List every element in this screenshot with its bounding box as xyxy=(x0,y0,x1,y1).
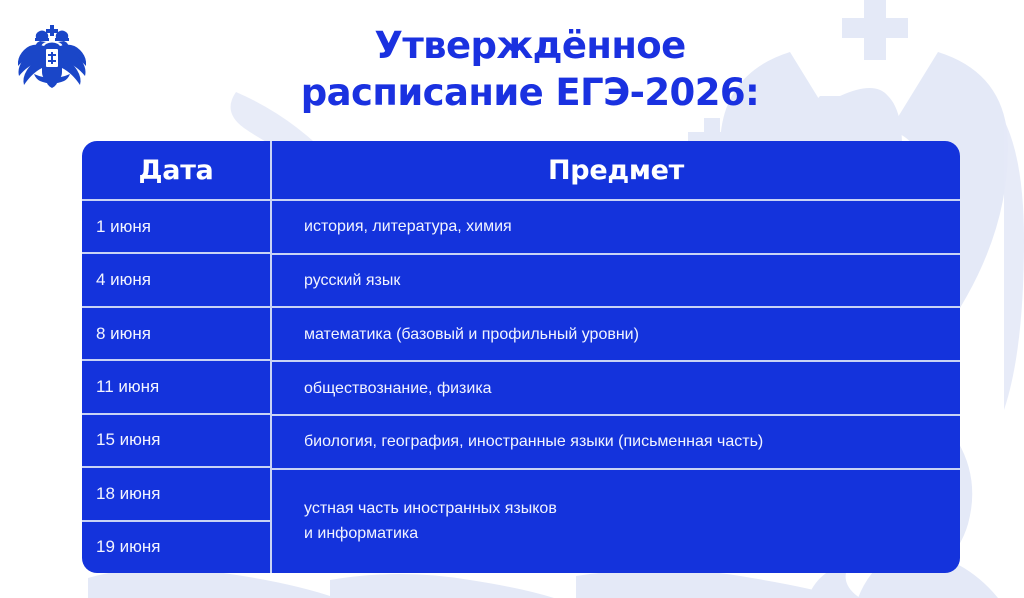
merged-subject-line2: и информатика xyxy=(304,521,557,546)
subject-cell: биология, география, иностранные языки (… xyxy=(272,416,960,470)
table-row: 18 июня xyxy=(82,468,270,521)
table-row: 8 июня xyxy=(82,308,270,361)
table-row: 4 июня xyxy=(82,254,270,307)
page-title-line2: расписание ЕГЭ-2026: xyxy=(180,69,880,116)
date-column: 1 июня 4 июня 8 июня 11 июня 15 июня 18 … xyxy=(82,201,272,573)
double-headed-eagle-emblem xyxy=(18,22,86,88)
column-header-subject: Предмет xyxy=(272,141,960,199)
table-row: 11 июня xyxy=(82,361,270,414)
page-title: Утверждённое расписание ЕГЭ-2026: xyxy=(180,22,880,116)
table-row: 1 июня xyxy=(82,201,270,254)
column-header-date: Дата xyxy=(82,141,272,199)
subject-column: история, литература, химия русский язык … xyxy=(272,201,960,573)
table-row: 19 июня xyxy=(82,522,270,573)
merged-subject-line1: устная часть иностранных языков xyxy=(304,496,557,521)
edge-watermark-right xyxy=(1004,120,1024,410)
subject-cell-merged: устная часть иностранных языков и информ… xyxy=(272,470,960,573)
subject-cell: обществознание, физика xyxy=(272,362,960,416)
table-body: 1 июня 4 июня 8 июня 11 июня 15 июня 18 … xyxy=(82,201,960,573)
subject-cell: история, литература, химия xyxy=(272,201,960,255)
table-row: 15 июня xyxy=(82,415,270,468)
subject-cell: математика (базовый и профильный уровни) xyxy=(272,308,960,362)
subject-cell: русский язык xyxy=(272,255,960,309)
page-title-line1: Утверждённое xyxy=(180,22,880,69)
exam-schedule-table: Дата Предмет 1 июня 4 июня 8 июня 11 июн… xyxy=(82,141,960,573)
table-header-row: Дата Предмет xyxy=(82,141,960,201)
